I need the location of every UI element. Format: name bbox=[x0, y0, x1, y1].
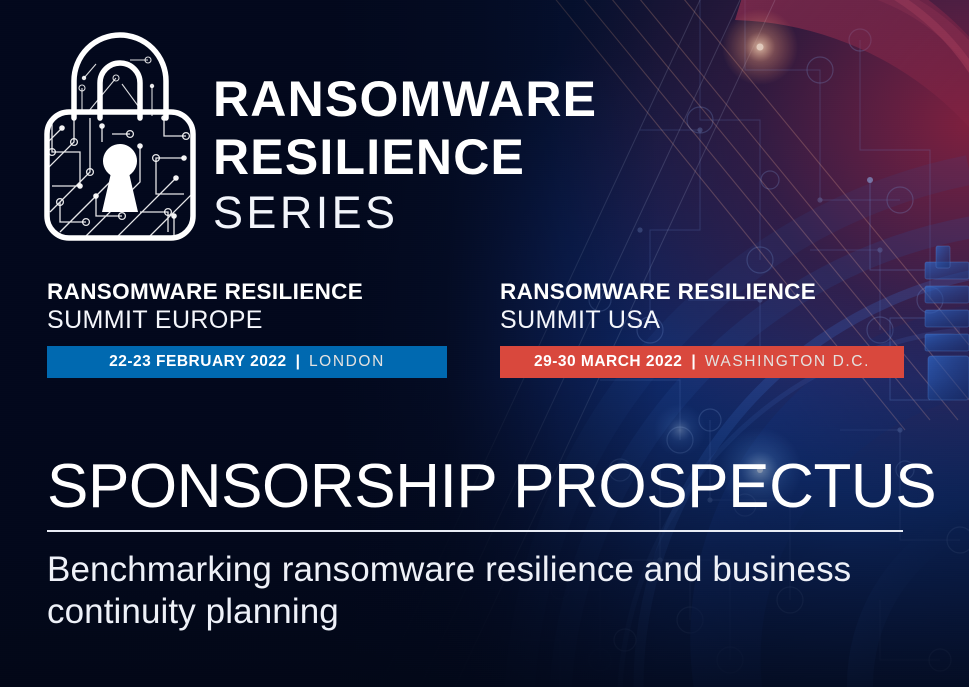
event-title-europe: RANSOMWARE RESILIENCE bbox=[47, 278, 447, 305]
page-subtitle: Benchmarking ransomware resilience and b… bbox=[47, 549, 927, 633]
event-card-usa: RANSOMWARE RESILIENCE SUMMIT USA 29-30 M… bbox=[500, 278, 904, 378]
brand-line-series: SERIES bbox=[213, 186, 713, 240]
event-subtitle-usa: SUMMIT USA bbox=[500, 305, 904, 336]
page-title: SPONSORSHIP PROSPECTUS bbox=[47, 452, 936, 522]
event-title-usa: RANSOMWARE RESILIENCE bbox=[500, 278, 904, 305]
event-date-europe: 22-23 FEBRUARY 2022 bbox=[109, 353, 287, 371]
event-banner-usa: 29-30 MARCH 2022 | WASHINGTON D.C. bbox=[500, 346, 904, 378]
padlock-circuit-icon bbox=[44, 26, 196, 241]
title-divider bbox=[47, 530, 903, 532]
event-banner-europe: 22-23 FEBRUARY 2022 | LONDON bbox=[47, 346, 447, 378]
brand-line-ransomware: RANSOMWARE bbox=[213, 70, 713, 128]
brand-wordmark: RANSOMWARE RESILIENCE SERIES bbox=[213, 70, 713, 240]
event-separator-usa: | bbox=[682, 353, 704, 371]
event-subtitle-europe: SUMMIT EUROPE bbox=[47, 305, 447, 336]
event-date-usa: 29-30 MARCH 2022 bbox=[534, 353, 682, 371]
event-city-usa: WASHINGTON D.C. bbox=[705, 353, 870, 371]
event-separator-europe: | bbox=[287, 353, 309, 371]
brand-line-resilience: RESILIENCE bbox=[213, 128, 713, 186]
event-card-europe: RANSOMWARE RESILIENCE SUMMIT EUROPE 22-2… bbox=[47, 278, 447, 378]
event-city-europe: LONDON bbox=[309, 353, 385, 371]
sponsorship-prospectus-cover: RANSOMWARE RESILIENCE SERIES RANSOMWARE … bbox=[0, 0, 969, 687]
